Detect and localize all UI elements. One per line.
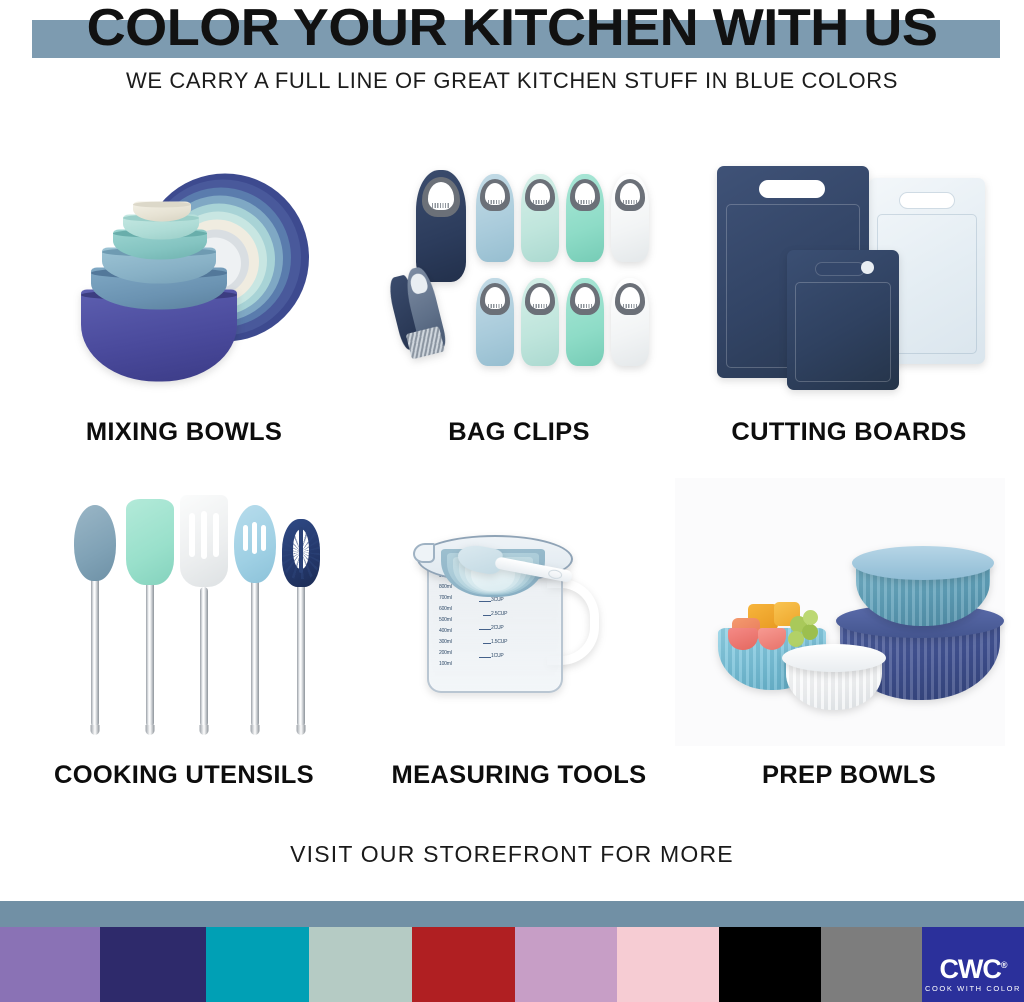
page-subtitle: WE CARRY A FULL LINE OF GREAT KITCHEN ST… bbox=[0, 68, 1024, 94]
color-swatch-strip: CWC®COOK WITH COLOR bbox=[0, 927, 1024, 1002]
product-cell-prep-bowls[interactable]: PREP BOWLS bbox=[690, 480, 1008, 800]
product-cell-measuring-tools[interactable]: 1L 4CUP 900ml 3.5CUP 800ml 3CUP 700ml 2.… bbox=[360, 480, 678, 800]
product-cell-bag-clips[interactable]: BAG CLIPS bbox=[360, 150, 678, 470]
mixing-bowls-image bbox=[25, 150, 343, 400]
product-label-measuring-tools: MEASURING TOOLS bbox=[357, 761, 681, 790]
prep-bowls-image bbox=[690, 480, 1008, 750]
cooking-utensils-image bbox=[25, 480, 343, 750]
product-cell-cutting-boards[interactable]: CUTTING BOARDS bbox=[690, 150, 1008, 470]
color-swatch-royal-blue: CWC®COOK WITH COLOR bbox=[922, 927, 1024, 1002]
product-label-prep-bowls: PREP BOWLS bbox=[687, 761, 1011, 790]
page-title: COLOR YOUR KITCHEN WITH US bbox=[0, 0, 1024, 56]
color-swatch-purple bbox=[0, 927, 100, 1002]
product-grid: MIXING BOWLS bbox=[0, 150, 1024, 850]
brand-logo-text: CWC® bbox=[922, 951, 1024, 983]
utensil-turner bbox=[179, 495, 229, 735]
utensil-spoon bbox=[73, 505, 117, 735]
color-swatch-indigo bbox=[100, 927, 206, 1002]
bag-clips-image bbox=[360, 150, 678, 400]
color-swatch-teal bbox=[206, 927, 309, 1002]
color-swatch-sage bbox=[309, 927, 412, 1002]
storefront-note: VISIT OUR STOREFRONT FOR MORE bbox=[0, 841, 1024, 868]
product-label-cutting-boards: CUTTING BOARDS bbox=[687, 418, 1011, 447]
color-swatch-orchid bbox=[515, 927, 617, 1002]
brand-logo: CWC®COOK WITH COLOR bbox=[922, 951, 1024, 994]
cutting-boards-image bbox=[690, 150, 1008, 400]
product-label-bag-clips: BAG CLIPS bbox=[357, 418, 681, 447]
product-label-mixing-bowls: MIXING BOWLS bbox=[22, 418, 346, 447]
utensil-spatula bbox=[125, 499, 175, 735]
product-cell-mixing-bowls[interactable]: MIXING BOWLS bbox=[25, 150, 343, 470]
measuring-tools-image: 1L 4CUP 900ml 3.5CUP 800ml 3CUP 700ml 2.… bbox=[360, 480, 678, 750]
utensil-pasta-server bbox=[281, 519, 321, 735]
brand-tagline: COOK WITH COLOR bbox=[922, 983, 1024, 994]
product-label-cooking-utensils: COOKING UTENSILS bbox=[22, 761, 346, 790]
color-swatch-gray bbox=[821, 927, 922, 1002]
color-swatch-black bbox=[719, 927, 821, 1002]
color-swatch-red bbox=[412, 927, 515, 1002]
registered-trademark-icon: ® bbox=[1001, 960, 1007, 970]
color-swatch-pale-pink bbox=[617, 927, 719, 1002]
infographic-page: COLOR YOUR KITCHEN WITH US WE CARRY A FU… bbox=[0, 0, 1024, 1002]
utensil-slotted-spoon bbox=[233, 505, 277, 735]
product-cell-cooking-utensils[interactable]: COOKING UTENSILS bbox=[25, 480, 343, 800]
color-strip-bar bbox=[0, 901, 1024, 927]
